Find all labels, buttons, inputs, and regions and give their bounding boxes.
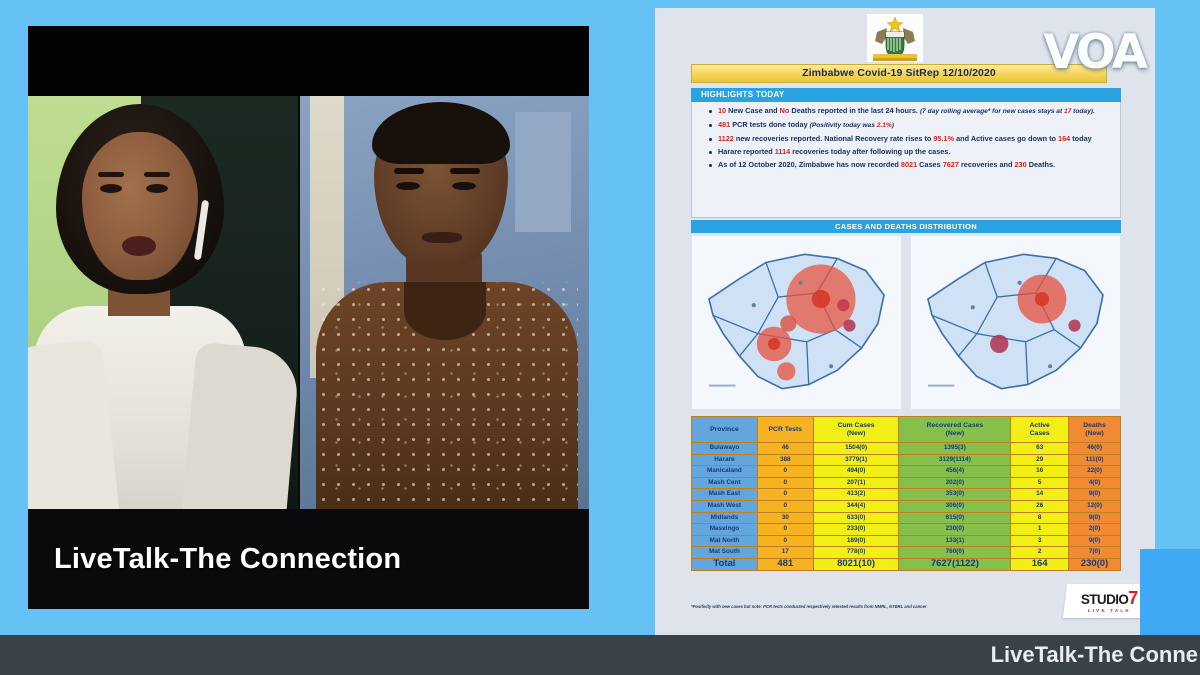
cell-rec: 760(0) — [899, 547, 1011, 559]
cell-province: Harare — [692, 454, 758, 466]
col-header-province: Province — [692, 417, 758, 443]
cell-deaths: 12(0) — [1069, 500, 1121, 512]
cell-cum: 494(0) — [813, 466, 899, 478]
col-header-active-cases: ActiveCases — [1011, 417, 1069, 443]
table-body: Bulawayo 46 1504(0) 1395(3) 63 46(0) Har… — [692, 443, 1121, 571]
voa-watermark-logo: VOA — [1041, 24, 1145, 82]
cell-cum: 344(4) — [813, 500, 899, 512]
cell-pcr: 388 — [757, 454, 813, 466]
cell-cum: 3779(1) — [813, 454, 899, 466]
zimbabwe-map-deaths-icon — [911, 236, 1120, 409]
cell-total-cum: 8021(10) — [813, 558, 899, 570]
cell-pcr: 0 — [757, 535, 813, 547]
cell-cum: 189(0) — [813, 535, 899, 547]
cell-deaths: 9(0) — [1069, 512, 1121, 524]
guest-eye-right — [452, 182, 476, 190]
table-row[interactable]: Mash Cent 0 207(1) 202(0) 5 4(0) — [692, 477, 1121, 489]
cell-province: Manicaland — [692, 466, 758, 478]
video-call-panel: LiveTalk-The Connection — [0, 0, 612, 645]
highlight-item-3: 1122 new recoveries reported. National R… — [708, 134, 1110, 145]
host-face — [82, 132, 198, 280]
guest-eyebrow-left — [394, 168, 424, 174]
cell-total-rec: 7627(1122) — [899, 558, 1011, 570]
map-deaths[interactable] — [910, 235, 1121, 410]
cell-deaths: 46(0) — [1069, 443, 1121, 455]
cell-province: Mash Cent — [692, 477, 758, 489]
cell-rec: 1395(3) — [899, 443, 1011, 455]
table-row[interactable]: Mat South 17 778(0) 760(0) 2 7(0) — [692, 547, 1121, 559]
guest-eyebrow-right — [450, 168, 480, 174]
participant-tile-host[interactable] — [28, 96, 298, 537]
table-row[interactable]: Mash East 0 413(2) 353(0) 14 9(0) — [692, 489, 1121, 501]
highlight-item-4: Harare reported 1114 recoveries today af… — [708, 147, 1110, 158]
cell-cum: 207(1) — [813, 477, 899, 489]
cell-rec: 615(0) — [899, 512, 1011, 524]
bottom-accent-block — [1140, 549, 1200, 635]
cell-province: Masvingo — [692, 524, 758, 536]
cell-active: 8 — [1011, 512, 1069, 524]
cell-active: 5 — [1011, 477, 1069, 489]
cases-deaths-banner: CASES AND DEATHS DISTRIBUTION — [691, 220, 1121, 233]
cell-pcr: 0 — [757, 500, 813, 512]
distribution-maps — [691, 235, 1121, 410]
table-row[interactable]: Masvingo 0 233(0) 230(0) 1 2(0) — [692, 524, 1121, 536]
bottom-status-bar: LiveTalk-The Conne — [0, 635, 1200, 675]
col-header-cum-cases: Cum Cases(New) — [813, 417, 899, 443]
cell-pcr: 46 — [757, 443, 813, 455]
participant-tile-guest[interactable] — [298, 96, 589, 537]
guest-eye-left — [396, 182, 420, 190]
cell-deaths: 9(0) — [1069, 535, 1121, 547]
map-cumulative-cases[interactable] — [691, 235, 902, 410]
program-title-caption: LiveTalk-The Connection — [28, 543, 401, 576]
table-row[interactable]: Midlands 30 633(0) 615(0) 8 9(0) — [692, 512, 1121, 524]
cell-pcr: 0 — [757, 489, 813, 501]
guest-background-panel — [515, 112, 571, 232]
cell-province: Midlands — [692, 512, 758, 524]
cell-total-pcr: 481 — [757, 558, 813, 570]
cell-rec: 353(0) — [899, 489, 1011, 501]
cell-active: 1 — [1011, 524, 1069, 536]
table-footnote: *Positivity with new cases but note: PCR… — [691, 604, 1121, 609]
cell-pcr: 0 — [757, 466, 813, 478]
video-frame: LiveTalk-The Connection — [28, 26, 589, 609]
table-row[interactable]: Mash West 0 344(4) 306(0) 26 12(0) — [692, 500, 1121, 512]
video-participant-grid — [28, 96, 589, 537]
cell-active: 26 — [1011, 500, 1069, 512]
caption-strip: LiveTalk-The Connection — [28, 509, 589, 609]
table-row[interactable]: Manicaland 0 494(0) 456(4) 16 22(0) — [692, 466, 1121, 478]
cell-cum: 233(0) — [813, 524, 899, 536]
host-mouth — [122, 236, 156, 256]
host-eye-right — [146, 184, 168, 193]
guest-mouth — [422, 232, 462, 243]
cell-cum: 633(0) — [813, 512, 899, 524]
zimbabwe-coat-of-arms-icon — [867, 14, 923, 62]
table-header-row: Province PCR Tests Cum Cases(New) Recove… — [692, 417, 1121, 443]
province-statistics-table[interactable]: Province PCR Tests Cum Cases(New) Recove… — [691, 416, 1121, 571]
col-header-pcr-tests: PCR Tests — [757, 417, 813, 443]
video-letterbox-top — [28, 26, 589, 96]
cell-rec: 133(1) — [899, 535, 1011, 547]
cell-pcr: 0 — [757, 524, 813, 536]
cell-province: Mash East — [692, 489, 758, 501]
cell-cum: 778(0) — [813, 547, 899, 559]
cell-active: 29 — [1011, 454, 1069, 466]
cell-total-deaths: 230(0) — [1069, 558, 1121, 570]
highlight-item-5: As of 12 October 2020, Zimbabwe has now … — [708, 160, 1110, 171]
cell-province: Bulawayo — [692, 443, 758, 455]
host-eye-left — [100, 184, 122, 193]
cell-active: 16 — [1011, 466, 1069, 478]
cell-province: Mat North — [692, 535, 758, 547]
cell-deaths: 4(0) — [1069, 477, 1121, 489]
host-shoulder-right — [179, 342, 298, 537]
bottom-bar-program-title: LiveTalk-The Conne — [991, 635, 1200, 675]
cell-deaths: 9(0) — [1069, 489, 1121, 501]
cell-total-active: 164 — [1011, 558, 1069, 570]
highlights-list: 10 New Case and No Deaths reported in th… — [691, 102, 1121, 218]
col-header-deaths: Deaths(New) — [1069, 417, 1121, 443]
cell-rec: 202(0) — [899, 477, 1011, 489]
cell-deaths: 7(0) — [1069, 547, 1121, 559]
cell-deaths: 2(0) — [1069, 524, 1121, 536]
cell-pcr: 0 — [757, 477, 813, 489]
cell-total-label: Total — [692, 558, 758, 570]
host-eyebrow-left — [98, 172, 124, 177]
sitrep-document[interactable]: VOA Zimbabwe Covid-19 SitRep 12/10/2020 … — [655, 8, 1155, 641]
table-row[interactable]: Harare 388 3779(1) 3129(1114) 29 111(0) — [692, 454, 1121, 466]
cell-rec: 3129(1114) — [899, 454, 1011, 466]
table-row[interactable]: Mat North 0 189(0) 133(1) 3 9(0) — [692, 535, 1121, 547]
cell-active: 14 — [1011, 489, 1069, 501]
cell-active: 63 — [1011, 443, 1069, 455]
cell-rec: 306(0) — [899, 500, 1011, 512]
highlights-banner: HIGHLIGHTS TODAY — [691, 88, 1121, 102]
col-header-recovered-cases: Recovered Cases(New) — [899, 417, 1011, 443]
cell-active: 2 — [1011, 547, 1069, 559]
cell-active: 3 — [1011, 535, 1069, 547]
shared-document-panel: VOA Zimbabwe Covid-19 SitRep 12/10/2020 … — [612, 0, 1200, 645]
zimbabwe-map-cases-icon — [692, 236, 901, 409]
cell-rec: 456(4) — [899, 466, 1011, 478]
cell-deaths: 111(0) — [1069, 454, 1121, 466]
cell-province: Mat South — [692, 547, 758, 559]
cell-rec: 230(0) — [899, 524, 1011, 536]
cell-province: Mash West — [692, 500, 758, 512]
cell-cum: 413(2) — [813, 489, 899, 501]
cell-cum: 1504(0) — [813, 443, 899, 455]
cell-pcr: 17 — [757, 547, 813, 559]
highlight-item-1: 10 New Case and No Deaths reported in th… — [708, 106, 1110, 118]
host-eyebrow-right — [144, 172, 170, 177]
cell-deaths: 22(0) — [1069, 466, 1121, 478]
guest-collar — [404, 282, 486, 340]
cell-pcr: 30 — [757, 512, 813, 524]
highlight-item-2: 481 PCR tests done today (Positivity tod… — [708, 120, 1110, 132]
table-row-total[interactable]: Total 481 8021(10) 7627(1122) 164 230(0) — [692, 558, 1121, 570]
table-row[interactable]: Bulawayo 46 1504(0) 1395(3) 63 46(0) — [692, 443, 1121, 455]
